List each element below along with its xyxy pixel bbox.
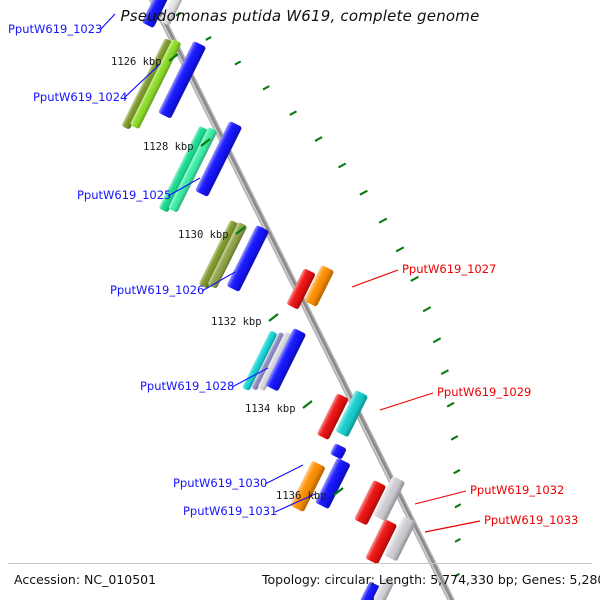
arc-tick: [360, 191, 367, 195]
leader-line: [415, 491, 466, 504]
arc-tick: [290, 111, 297, 115]
axis-tick-label: 1126 kbp: [111, 57, 162, 68]
arc-tick: [447, 403, 454, 407]
gene-label[interactable]: PputW619_1028: [140, 381, 234, 393]
axis-tick-label: 1128 kbp: [143, 142, 194, 153]
leader-line: [265, 465, 303, 484]
arc-tick: [396, 247, 404, 251]
kbp-tick: [303, 401, 312, 408]
gene-label[interactable]: PputW619_1026: [110, 285, 204, 297]
arc-tick: [338, 164, 345, 168]
gene-label[interactable]: PputW619_1023: [8, 24, 102, 36]
axis-tick-label: 1136 kbp: [276, 491, 327, 502]
footer-divider: [8, 563, 592, 564]
arc-tick: [235, 61, 241, 64]
gene-label[interactable]: PputW619_1024: [33, 92, 127, 104]
gene-label[interactable]: PputW619_1031: [183, 506, 277, 518]
accession-text: Accession: NC_010501: [14, 572, 156, 587]
arc-tick: [263, 86, 269, 89]
arc-tick: [451, 436, 458, 440]
axis-tick-label: 1134 kbp: [245, 404, 296, 415]
leader-line: [352, 270, 398, 287]
kbp-tick: [269, 314, 278, 321]
arc-tick: [441, 370, 448, 374]
genome-map-canvas: Pseudomonas putida W619, complete genome…: [0, 0, 600, 600]
arc-tick: [423, 307, 431, 311]
gene-label[interactable]: PputW619_1033: [484, 515, 578, 527]
leader-line: [425, 521, 480, 532]
leader-line: [380, 393, 433, 410]
gene-label[interactable]: PputW619_1025: [77, 190, 171, 202]
arc-tick: [433, 338, 440, 342]
gene-label[interactable]: PputW619_1029: [437, 387, 531, 399]
arc-tick: [379, 219, 387, 223]
arc-tick: [455, 539, 460, 542]
axis-tick-label: 1132 kbp: [211, 317, 262, 328]
kbp-tick-marks: [169, 54, 343, 495]
gene-label[interactable]: PputW619_1032: [470, 485, 564, 497]
arc-tick: [206, 37, 211, 40]
gene-feature: [330, 443, 347, 460]
arc-tick: [411, 277, 419, 281]
arc-tick: [315, 137, 322, 141]
gene-label[interactable]: PputW619_1027: [402, 264, 496, 276]
gene-label[interactable]: PputW619_1030: [173, 478, 267, 490]
axis-tick-label: 1130 kbp: [178, 230, 229, 241]
arc-tick: [455, 504, 461, 507]
arc-tick: [454, 470, 460, 473]
genome-summary-text: Topology: circular; Length: 5,774,330 bp…: [262, 572, 600, 587]
